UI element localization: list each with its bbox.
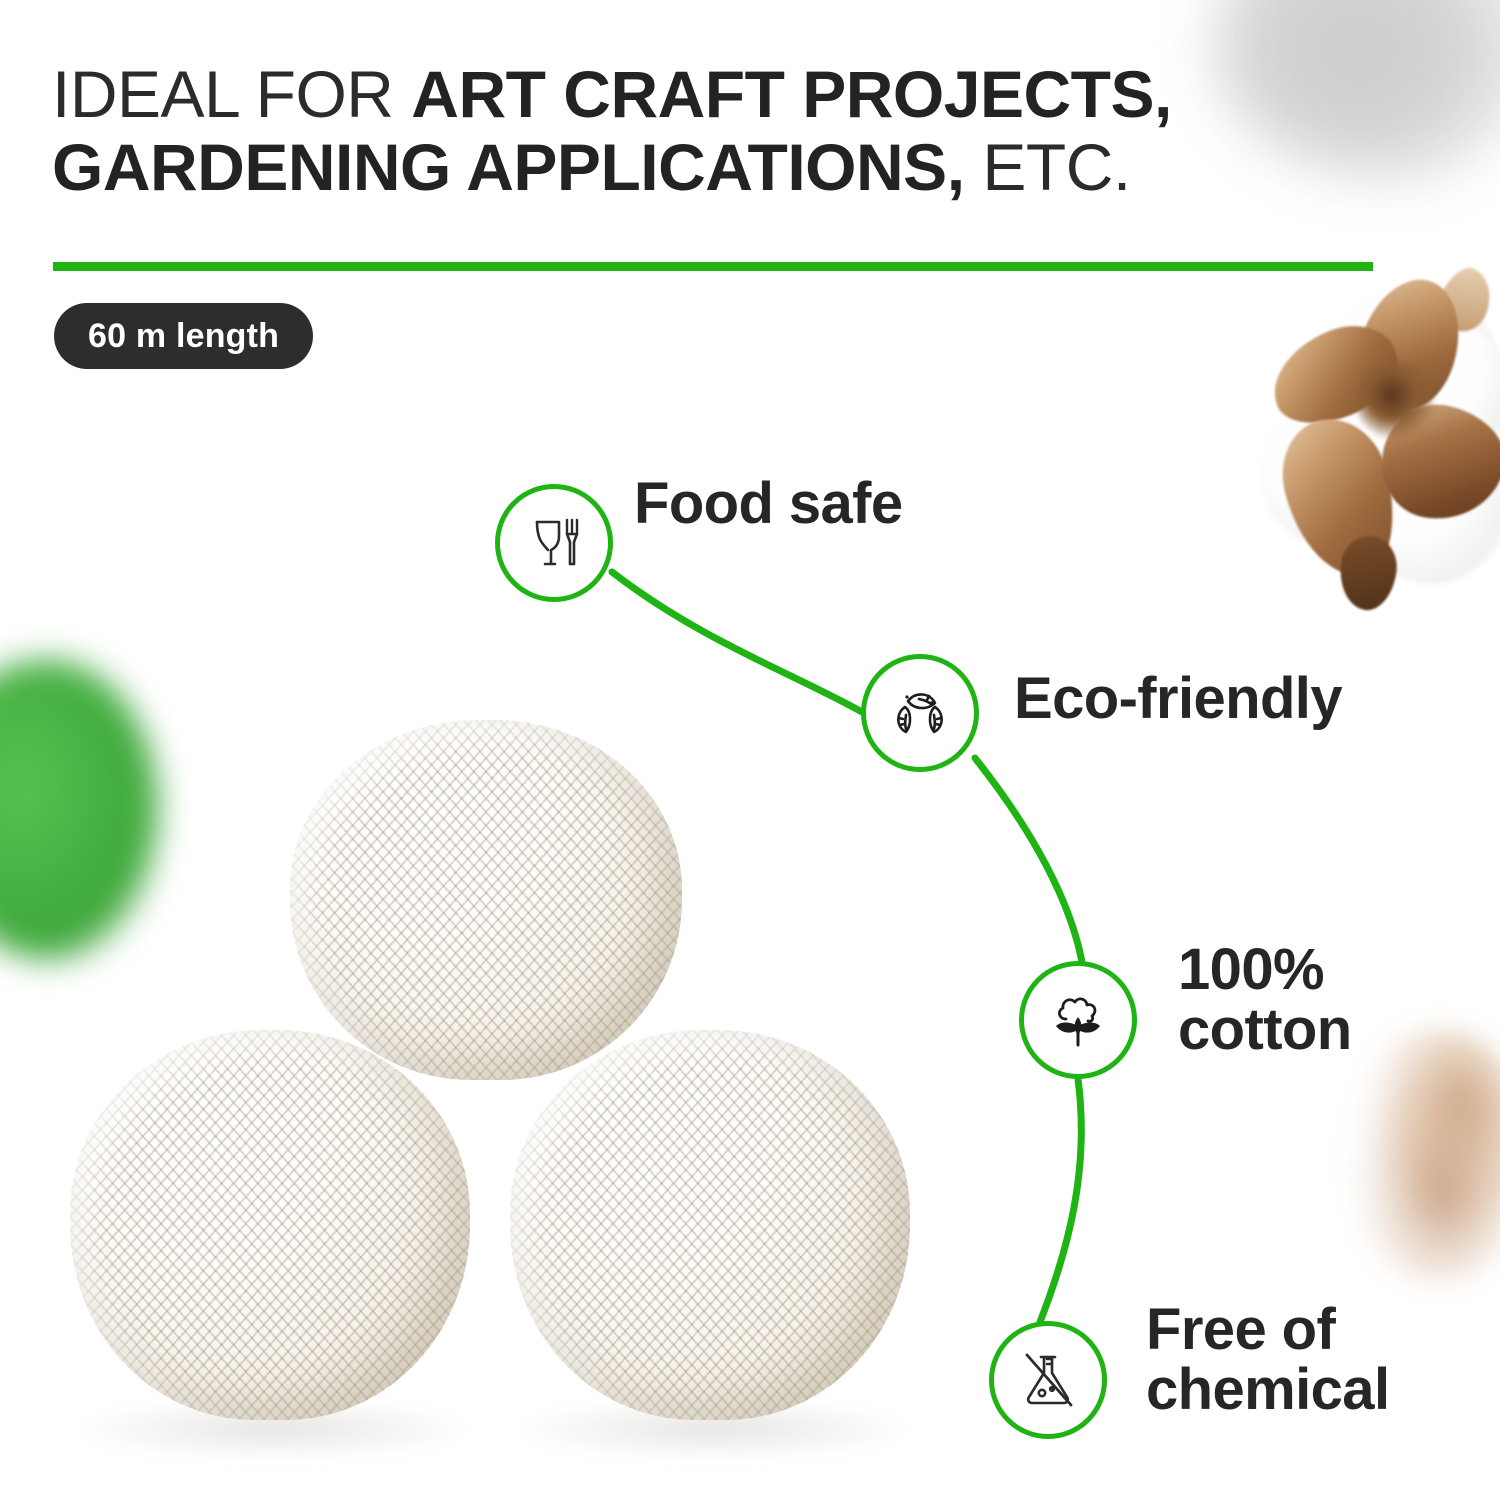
feature-icon-100-cotton[interactable] xyxy=(1019,961,1137,1079)
connector-cotton-to-chemical xyxy=(1040,1079,1081,1322)
feature-icon-free-of-chemical[interactable] xyxy=(989,1321,1107,1439)
feature-label-eco-friendly: Eco-friendly xyxy=(1014,669,1342,729)
three-leaves-recycle-icon xyxy=(886,679,954,747)
feature-icon-eco-friendly[interactable] xyxy=(861,654,979,772)
connector-eco-to-cotton xyxy=(975,758,1082,962)
product-infographic: IDEAL FOR ART CRAFT PROJECTS, GARDENING … xyxy=(0,0,1500,1500)
no-chemical-flask-icon xyxy=(1015,1347,1081,1413)
feature-icon-food-safe[interactable] xyxy=(495,484,613,602)
feature-label-100-cotton: 100% cotton xyxy=(1178,940,1352,1061)
glass-and-fork-icon xyxy=(521,510,587,576)
feature-label-free-of-chemical: Free of chemical xyxy=(1146,1300,1389,1421)
feature-label-food-safe: Food safe xyxy=(634,474,903,534)
connector-food-to-eco xyxy=(612,572,862,712)
feature-connector-path xyxy=(0,0,1500,1500)
cotton-boll-icon xyxy=(1044,989,1112,1051)
